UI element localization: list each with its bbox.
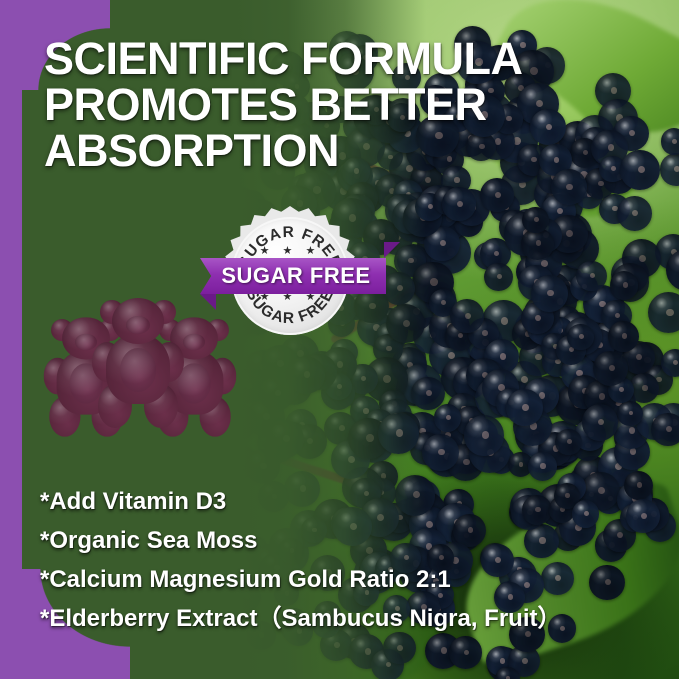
berry bbox=[608, 321, 639, 352]
sugar-free-badge: SUGAR FREE SUGAR FREE ★ ★ ★ ★ ★ ★ SUGAR … bbox=[214, 206, 366, 346]
berry bbox=[449, 636, 482, 669]
berry bbox=[661, 128, 679, 155]
berry bbox=[434, 404, 462, 432]
berry bbox=[506, 389, 543, 426]
berry bbox=[610, 271, 638, 299]
berry bbox=[617, 401, 642, 426]
bullet-item: *Organic Sea Moss bbox=[40, 522, 640, 561]
bullet-item: *Elderberry Extract（Sambucus Nigra, Frui… bbox=[40, 600, 640, 639]
berry bbox=[484, 263, 512, 291]
headline-line-3: ABSORPTION bbox=[44, 128, 584, 174]
berry bbox=[531, 275, 568, 312]
gummy-bears-image bbox=[42, 298, 242, 450]
bullet-item: *Add Vitamin D3 bbox=[40, 483, 640, 522]
berry bbox=[555, 429, 581, 455]
badge-stars-top: ★ ★ ★ bbox=[214, 244, 366, 257]
badge-ribbon: SUGAR FREE bbox=[200, 258, 386, 294]
berry bbox=[522, 207, 548, 233]
berry bbox=[648, 292, 679, 333]
berry bbox=[567, 324, 594, 351]
berry bbox=[582, 404, 619, 441]
berry bbox=[442, 187, 475, 220]
berry bbox=[551, 169, 587, 205]
bear-snout bbox=[126, 316, 150, 334]
product-feature-poster: SCIENTIFIC FORMULA PROMOTES BETTER ABSOR… bbox=[0, 0, 679, 679]
feature-bullet-list: *Add Vitamin D3 *Organic Sea Moss *Calci… bbox=[40, 483, 640, 639]
berry bbox=[651, 413, 679, 447]
ribbon-label: SUGAR FREE bbox=[215, 263, 370, 289]
berry bbox=[620, 150, 660, 190]
berry bbox=[576, 261, 606, 291]
berry bbox=[617, 196, 652, 231]
headline-line-1: SCIENTIFIC FORMULA bbox=[44, 36, 584, 82]
headline-line-2: PROMOTES BETTER bbox=[44, 82, 584, 128]
berry bbox=[450, 299, 484, 333]
bear-snout bbox=[183, 334, 205, 351]
bear-belly bbox=[120, 348, 156, 392]
berry bbox=[464, 415, 504, 455]
berry bbox=[528, 452, 557, 481]
headline: SCIENTIFIC FORMULA PROMOTES BETTER ABSOR… bbox=[44, 36, 584, 174]
gummy-bear bbox=[94, 298, 182, 428]
bullet-item: *Calcium Magnesium Gold Ratio 2:1 bbox=[40, 561, 640, 600]
berry bbox=[660, 153, 679, 185]
